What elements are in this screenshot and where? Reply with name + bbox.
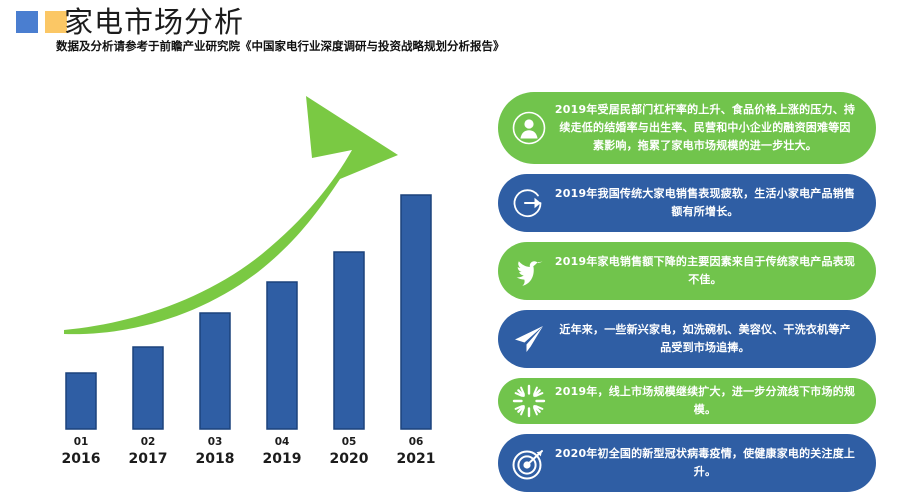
axis-period-2018: 03: [185, 434, 245, 451]
axis-period-2021: 06: [386, 434, 446, 451]
person-icon: [506, 105, 552, 151]
bar-2016: [66, 373, 96, 429]
callout-text-4: 近年来，一些新兴家电，如洗碗机、美容仪、干洗衣机等产品受到市场追捧。: [552, 321, 858, 357]
bar-2018: [200, 313, 230, 429]
callout-item-1[interactable]: 2019年受居民部门杠杆率的上升、食品价格上涨的压力、持续走低的结婚率与出生率、…: [498, 92, 876, 164]
axis-period-2019: 04: [252, 434, 312, 451]
axis-label-2020: 05 2020: [319, 434, 379, 468]
axis-year-2016: 2016: [51, 451, 111, 468]
axis-year-2018: 2018: [185, 451, 245, 468]
bar-chart: 01 2016 02 2017 03 2018 04 2019 05 2020 …: [0, 62, 480, 480]
axis-year-2020: 2020: [319, 451, 379, 468]
axis-year-2019: 2019: [252, 451, 312, 468]
bar-2019: [267, 282, 297, 429]
callout-item-5[interactable]: 2019年，线上市场规模继续扩大，进一步分流线下市场的规模。: [498, 378, 876, 424]
axis-year-2021: 2021: [386, 451, 446, 468]
page-title: 家电市场分析: [64, 5, 244, 39]
callout-text-3: 2019年家电销售额下降的主要因素来自于传统家电产品表现不佳。: [552, 253, 858, 289]
callout-text-5: 2019年，线上市场规模继续扩大，进一步分流线下市场的规模。: [552, 383, 858, 419]
callout-text-2: 2019年我国传统大家电销售表现疲软，生活小家电产品销售额有所增长。: [552, 185, 858, 221]
sunburst-icon: [506, 378, 552, 424]
page-subtitle: 数据及分析请参考于前瞻产业研究院《中国家电行业深度调研与投资战略规划分析报告》: [56, 39, 505, 54]
callout-item-6[interactable]: 2020年初全国的新型冠状病毒疫情，使健康家电的关注度上升。: [498, 434, 876, 492]
page-header: 家电市场分析 数据及分析请参考于前瞻产业研究院《中国家电行业深度调研与投资战略规…: [0, 0, 900, 62]
paper-plane-icon: [506, 316, 552, 362]
target-icon: [506, 440, 552, 486]
axis-period-2016: 01: [51, 434, 111, 451]
logo-mark: [16, 11, 67, 33]
callout-text-1: 2019年受居民部门杠杆率的上升、食品价格上涨的压力、持续走低的结婚率与出生率、…: [552, 101, 858, 155]
axis-label-2021: 06 2021: [386, 434, 446, 468]
bird-icon: [506, 248, 552, 294]
bar-2021: [401, 195, 431, 429]
bar-2017: [133, 347, 163, 429]
chart-canvas: [0, 62, 480, 442]
callout-text-6: 2020年初全国的新型冠状病毒疫情，使健康家电的关注度上升。: [552, 445, 858, 481]
bar-2020: [334, 252, 364, 429]
axis-label-2016: 01 2016: [51, 434, 111, 468]
arrow-right-circle-icon: [506, 180, 552, 226]
axis-label-2018: 03 2018: [185, 434, 245, 468]
insights-list: 2019年受居民部门杠杆率的上升、食品价格上涨的压力、持续走低的结婚率与出生率、…: [498, 92, 880, 502]
callout-item-4[interactable]: 近年来，一些新兴家电，如洗碗机、美容仪、干洗衣机等产品受到市场追捧。: [498, 310, 876, 368]
callout-item-3[interactable]: 2019年家电销售额下降的主要因素来自于传统家电产品表现不佳。: [498, 242, 876, 300]
axis-label-2019: 04 2019: [252, 434, 312, 468]
logo-square-blue-icon: [16, 11, 38, 33]
callout-item-2[interactable]: 2019年我国传统大家电销售表现疲软，生活小家电产品销售额有所增长。: [498, 174, 876, 232]
axis-year-2017: 2017: [118, 451, 178, 468]
axis-label-2017: 02 2017: [118, 434, 178, 468]
axis-period-2017: 02: [118, 434, 178, 451]
axis-period-2020: 05: [319, 434, 379, 451]
